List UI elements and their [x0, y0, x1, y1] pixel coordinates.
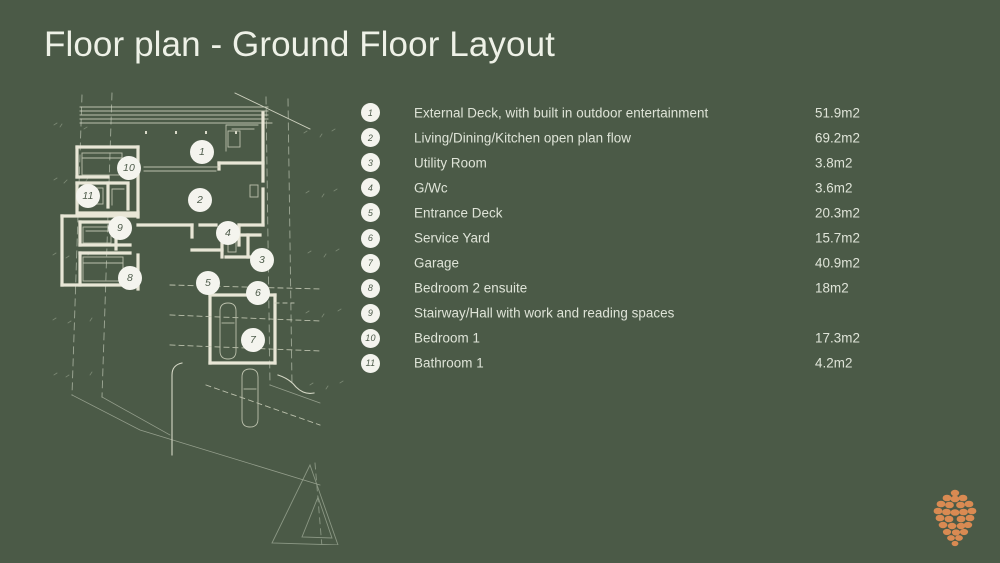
- legend-room-label: Bedroom 2 ensuite: [414, 281, 527, 296]
- legend-room-label: Entrance Deck: [414, 205, 502, 220]
- legend-room-label: Service Yard: [414, 231, 490, 246]
- table-row: 4 G/Wc 3.6m2: [361, 175, 901, 200]
- floor-plan-figure: 1 2 3 4 5 6 7 8 9 10 11: [20, 85, 360, 545]
- legend-room-label: Living/Dining/Kitchen open plan flow: [414, 130, 631, 145]
- table-row: 8 Bedroom 2 ensuite 18m2: [361, 276, 901, 301]
- legend-number-badge: 7: [361, 254, 380, 273]
- plan-marker[interactable]: 9: [108, 216, 132, 240]
- legend-number-badge: 8: [361, 279, 380, 298]
- pine-cone-icon: [928, 487, 982, 549]
- plan-marker[interactable]: 4: [216, 221, 240, 245]
- legend-room-label: External Deck, with built in outdoor ent…: [414, 105, 708, 120]
- table-row: 7 Garage 40.9m2: [361, 251, 901, 276]
- page-title: Floor plan - Ground Floor Layout: [44, 22, 555, 68]
- legend-number-badge: 2: [361, 128, 380, 147]
- legend-room-label: Utility Room: [414, 155, 487, 170]
- table-row: 10 Bedroom 1 17.3m2: [361, 326, 901, 351]
- legend-room-label: G/Wc: [414, 180, 448, 195]
- legend-number-badge: 10: [361, 329, 380, 348]
- plan-marker[interactable]: 1: [190, 140, 214, 164]
- plan-marker[interactable]: 11: [76, 184, 100, 208]
- legend-room-area: 17.3m2: [815, 331, 860, 346]
- legend-room-area: 3.8m2: [815, 155, 852, 170]
- legend-room-area: 4.2m2: [815, 356, 852, 371]
- table-row: 2 Living/Dining/Kitchen open plan flow 6…: [361, 125, 901, 150]
- table-row: 5 Entrance Deck 20.3m2: [361, 200, 901, 225]
- legend-room-area: 15.7m2: [815, 231, 860, 246]
- legend-room-area: 18m2: [815, 281, 849, 296]
- legend-room-area: 51.9m2: [815, 105, 860, 120]
- legend-number-badge: 4: [361, 178, 380, 197]
- legend-room-label: Bedroom 1: [414, 331, 480, 346]
- pine-cone-logo: [928, 487, 982, 549]
- legend-number-badge: 6: [361, 229, 380, 248]
- table-row: 3 Utility Room 3.8m2: [361, 150, 901, 175]
- legend-number-badge: 11: [361, 354, 380, 373]
- legend-room-area: 40.9m2: [815, 256, 860, 271]
- room-schedule-legend: 1 External Deck, with built in outdoor e…: [361, 100, 901, 376]
- legend-room-label: Garage: [414, 256, 459, 271]
- table-row: 6 Service Yard 15.7m2: [361, 225, 901, 250]
- legend-number-badge: 9: [361, 304, 380, 323]
- legend-room-area: 20.3m2: [815, 205, 860, 220]
- table-row: 1 External Deck, with built in outdoor e…: [361, 100, 901, 125]
- plan-marker[interactable]: 8: [118, 266, 142, 290]
- legend-room-label: Stairway/Hall with work and reading spac…: [414, 306, 674, 321]
- legend-number-badge: 5: [361, 203, 380, 222]
- plan-marker[interactable]: 7: [241, 328, 265, 352]
- plan-marker[interactable]: 5: [196, 271, 220, 295]
- plan-marker[interactable]: 2: [188, 188, 212, 212]
- plan-marker[interactable]: 6: [246, 281, 270, 305]
- table-row: 11 Bathroom 1 4.2m2: [361, 351, 901, 376]
- plan-marker[interactable]: 3: [250, 248, 274, 272]
- legend-room-area: 3.6m2: [815, 180, 852, 195]
- plan-marker[interactable]: 10: [117, 156, 141, 180]
- legend-room-area: 69.2m2: [815, 130, 860, 145]
- legend-number-badge: 3: [361, 153, 380, 172]
- slide-canvas: Floor plan - Ground Floor Layout: [0, 0, 1000, 563]
- legend-number-badge: 1: [361, 103, 380, 122]
- table-row: 9 Stairway/Hall with work and reading sp…: [361, 301, 901, 326]
- legend-room-label: Bathroom 1: [414, 356, 484, 371]
